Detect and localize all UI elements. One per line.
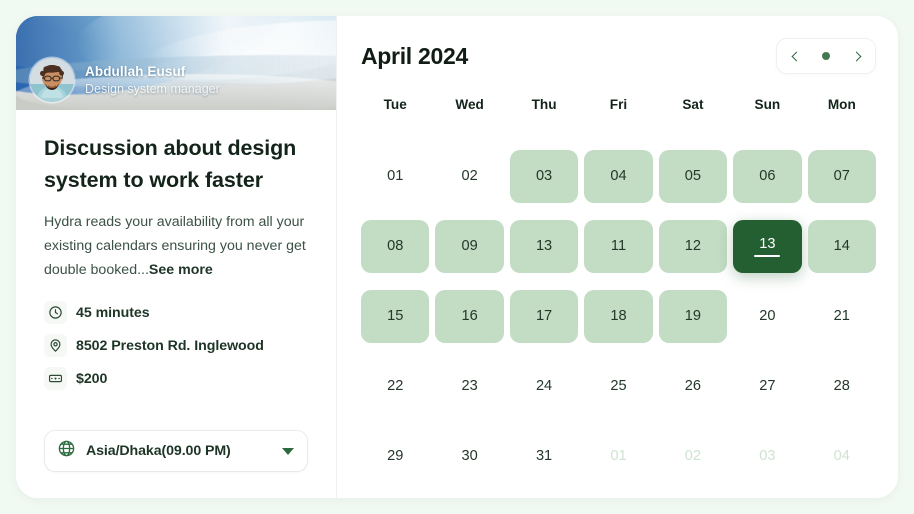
- calendar-day-plain[interactable]: 22: [361, 360, 429, 413]
- event-meta-location: 8502 Preston Rd. Inglewood: [44, 334, 308, 357]
- calendar-day-number: 13: [536, 238, 552, 254]
- calendar-day-cell[interactable]: 02: [659, 421, 727, 491]
- calendar-day-cell[interactable]: 30: [435, 421, 503, 491]
- profile-block: Abdullah Eusuf Design system manager: [30, 58, 220, 102]
- calendar-day-plain[interactable]: 31: [510, 430, 578, 483]
- profile-name: Abdullah Eusuf: [85, 63, 220, 80]
- calendar-day-avail[interactable]: 06: [733, 150, 801, 203]
- timezone-select[interactable]: Asia/Dhaka(09.00 PM): [44, 430, 308, 472]
- calendar-weekday: Fri: [584, 90, 652, 118]
- calendar-day-number: 17: [536, 308, 552, 324]
- calendar-day-avail[interactable]: 05: [659, 150, 727, 203]
- calendar-day-number: 06: [759, 168, 775, 184]
- calendar-day-number: 22: [387, 378, 403, 394]
- event-body: Discussion about design system to work f…: [16, 110, 336, 498]
- calendar-day-cell[interactable]: 22: [361, 351, 429, 421]
- clock-icon: [44, 301, 67, 324]
- calendar-day-avail[interactable]: 18: [584, 290, 652, 343]
- calendar-day-plain[interactable]: 24: [510, 360, 578, 413]
- calendar-day-plain[interactable]: 01: [361, 150, 429, 203]
- calendar-day-avail[interactable]: 15: [361, 290, 429, 343]
- calendar-day-other[interactable]: 01: [584, 430, 652, 483]
- calendar-day-number: 14: [834, 238, 850, 254]
- calendar-day-plain[interactable]: 02: [435, 150, 503, 203]
- globe-icon: [57, 439, 76, 463]
- avatar: [30, 58, 74, 102]
- event-details-panel: Abdullah Eusuf Design system manager Dis…: [16, 16, 337, 498]
- calendar-day-avail[interactable]: 16: [435, 290, 503, 343]
- dot-icon: [822, 52, 830, 60]
- calendar-day-selected[interactable]: 13: [733, 220, 801, 273]
- calendar-day-cell[interactable]: 08: [361, 211, 429, 281]
- calendar-day-number: 30: [462, 448, 478, 464]
- calendar-day-cell[interactable]: 02: [435, 141, 503, 211]
- calendar-day-number: 16: [462, 308, 478, 324]
- calendar-day-number: 19: [685, 308, 701, 324]
- calendar-day-avail[interactable]: 07: [808, 150, 876, 203]
- event-price-value: $200: [76, 371, 107, 387]
- calendar-day-number: 07: [834, 168, 850, 184]
- selected-day-underline: [754, 255, 780, 257]
- calendar-day-cell[interactable]: 09: [435, 211, 503, 281]
- event-meta-list: 45 minutes 8502 Preston Rd. Inglewood: [44, 301, 308, 390]
- calendar-weekday: Thu: [510, 90, 578, 118]
- calendar-panel: April 2024 TueWedThuFriSatSunMon 0102030…: [337, 16, 898, 498]
- calendar-day-cell[interactable]: 07: [808, 141, 876, 211]
- calendar-day-number: 01: [610, 448, 626, 464]
- event-meta-price: $200: [44, 367, 308, 390]
- calendar-day-cell[interactable]: 04: [808, 421, 876, 491]
- calendar-day-number: 28: [834, 378, 850, 394]
- calendar-day-cell[interactable]: 23: [435, 351, 503, 421]
- calendar-day-number: 11: [611, 238, 626, 254]
- calendar-weekday-row: TueWedThuFriSatSunMon: [361, 90, 876, 125]
- location-pin-icon: [44, 334, 67, 357]
- calendar-day-plain[interactable]: 27: [733, 360, 801, 413]
- calendar-day-plain[interactable]: 30: [435, 430, 503, 483]
- calendar-weekday: Sat: [659, 90, 727, 118]
- event-title: Discussion about design system to work f…: [44, 132, 308, 196]
- see-more-link[interactable]: See more: [149, 262, 213, 278]
- calendar-day-other[interactable]: 04: [808, 430, 876, 483]
- event-location-value: 8502 Preston Rd. Inglewood: [76, 338, 264, 354]
- calendar-day-other[interactable]: 03: [733, 430, 801, 483]
- calendar-day-avail[interactable]: 17: [510, 290, 578, 343]
- today-button[interactable]: [811, 39, 841, 73]
- calendar-day-cell[interactable]: 31: [510, 421, 578, 491]
- event-meta-duration: 45 minutes: [44, 301, 308, 324]
- event-description: Hydra reads your availability from all y…: [44, 210, 308, 282]
- calendar-day-avail[interactable]: 13: [510, 220, 578, 273]
- calendar-day-plain[interactable]: 26: [659, 360, 727, 413]
- calendar-day-plain[interactable]: 28: [808, 360, 876, 413]
- calendar-day-number: 04: [834, 448, 850, 464]
- calendar-day-number: 23: [462, 378, 478, 394]
- calendar-day-number: 03: [759, 448, 775, 464]
- calendar-day-avail[interactable]: 14: [808, 220, 876, 273]
- calendar-day-number: 29: [387, 448, 403, 464]
- timezone-value: Asia/Dhaka(09.00 PM): [86, 443, 272, 459]
- calendar-day-avail[interactable]: 04: [584, 150, 652, 203]
- user-avatar-photo: [30, 58, 74, 102]
- calendar-day-cell[interactable]: 11: [584, 211, 652, 281]
- chevron-left-icon: [791, 51, 801, 61]
- calendar-day-cell[interactable]: 04: [584, 141, 652, 211]
- calendar-day-cell[interactable]: 03: [510, 141, 578, 211]
- calendar-day-plain[interactable]: 29: [361, 430, 429, 483]
- calendar-day-number: 26: [685, 378, 701, 394]
- calendar-weekday: Mon: [808, 90, 876, 118]
- calendar-day-cell[interactable]: 13: [733, 211, 801, 281]
- calendar-day-cell[interactable]: 29: [361, 421, 429, 491]
- calendar-day-cell[interactable]: 18: [584, 281, 652, 351]
- calendar-day-plain[interactable]: 23: [435, 360, 503, 413]
- calendar-day-cell[interactable]: 20: [733, 281, 801, 351]
- calendar-day-number: 13: [759, 236, 775, 252]
- calendar-day-number: 27: [759, 378, 775, 394]
- calendar-day-cell[interactable]: 06: [733, 141, 801, 211]
- chevron-down-icon[interactable]: [282, 448, 294, 455]
- calendar-day-cell[interactable]: 24: [510, 351, 578, 421]
- event-duration-value: 45 minutes: [76, 305, 150, 321]
- profile-text: Abdullah Eusuf Design system manager: [85, 63, 220, 98]
- calendar-day-number: 21: [834, 308, 850, 324]
- calendar-day-avail[interactable]: 19: [659, 290, 727, 343]
- calendar-day-cell[interactable]: 03: [733, 421, 801, 491]
- calendar-day-other[interactable]: 02: [659, 430, 727, 483]
- calendar-nav: [776, 38, 876, 74]
- calendar-day-number: 02: [685, 448, 701, 464]
- calendar-day-number: 08: [387, 238, 403, 254]
- calendar-day-avail[interactable]: 09: [435, 220, 503, 273]
- calendar-day-number: 24: [536, 378, 552, 394]
- calendar-day-avail[interactable]: 11: [584, 220, 652, 273]
- calendar-header: April 2024: [361, 34, 876, 74]
- prev-month-button[interactable]: [781, 39, 811, 73]
- calendar-day-cell[interactable]: 19: [659, 281, 727, 351]
- calendar-day-cell[interactable]: 13: [510, 211, 578, 281]
- left-spacer: [44, 390, 308, 430]
- calendar-weekday: Sun: [733, 90, 801, 118]
- calendar-day-cell[interactable]: 14: [808, 211, 876, 281]
- calendar-day-cell[interactable]: 05: [659, 141, 727, 211]
- calendar-day-cell[interactable]: 12: [659, 211, 727, 281]
- calendar-day-avail[interactable]: 03: [510, 150, 578, 203]
- profile-role: Design system manager: [85, 80, 220, 98]
- calendar-day-number: 25: [610, 378, 626, 394]
- calendar-day-cell[interactable]: 16: [435, 281, 503, 351]
- calendar-day-cell[interactable]: 21: [808, 281, 876, 351]
- calendar-day-number: 12: [685, 238, 701, 254]
- chevron-right-icon: [851, 51, 861, 61]
- calendar-day-cell[interactable]: 26: [659, 351, 727, 421]
- calendar-day-number: 02: [462, 168, 478, 184]
- calendar-weekday: Tue: [361, 90, 429, 118]
- next-month-button[interactable]: [841, 39, 871, 73]
- calendar-day-cell[interactable]: 27: [733, 351, 801, 421]
- calendar-weekday: Wed: [435, 90, 503, 118]
- calendar-day-cell[interactable]: 25: [584, 351, 652, 421]
- booking-card: Abdullah Eusuf Design system manager Dis…: [16, 16, 898, 498]
- calendar-month-label: April 2024: [361, 43, 468, 70]
- calendar-day-cell[interactable]: 15: [361, 281, 429, 351]
- calendar-day-number: 04: [610, 168, 626, 184]
- money-banknote-icon: [44, 367, 67, 390]
- calendar-day-number: 31: [536, 448, 552, 464]
- calendar-day-number: 01: [387, 168, 403, 184]
- calendar-day-plain[interactable]: 25: [584, 360, 652, 413]
- calendar-day-cell[interactable]: 01: [584, 421, 652, 491]
- calendar-day-number: 18: [610, 308, 626, 324]
- calendar-day-plain[interactable]: 21: [808, 290, 876, 343]
- calendar-day-number: 09: [462, 238, 478, 254]
- calendar-day-cell[interactable]: 01: [361, 141, 429, 211]
- calendar-day-number: 20: [759, 308, 775, 324]
- calendar-day-number: 05: [685, 168, 701, 184]
- calendar-day-avail[interactable]: 12: [659, 220, 727, 273]
- profile-banner: Abdullah Eusuf Design system manager: [16, 16, 336, 110]
- calendar-day-plain[interactable]: 20: [733, 290, 801, 343]
- calendar-day-number: 15: [387, 308, 403, 324]
- calendar-day-number: 03: [536, 168, 552, 184]
- calendar-day-grid: 0102030405060708091311121314151617181920…: [361, 141, 876, 498]
- calendar-day-cell[interactable]: 17: [510, 281, 578, 351]
- calendar-day-cell[interactable]: 28: [808, 351, 876, 421]
- calendar-day-avail[interactable]: 08: [361, 220, 429, 273]
